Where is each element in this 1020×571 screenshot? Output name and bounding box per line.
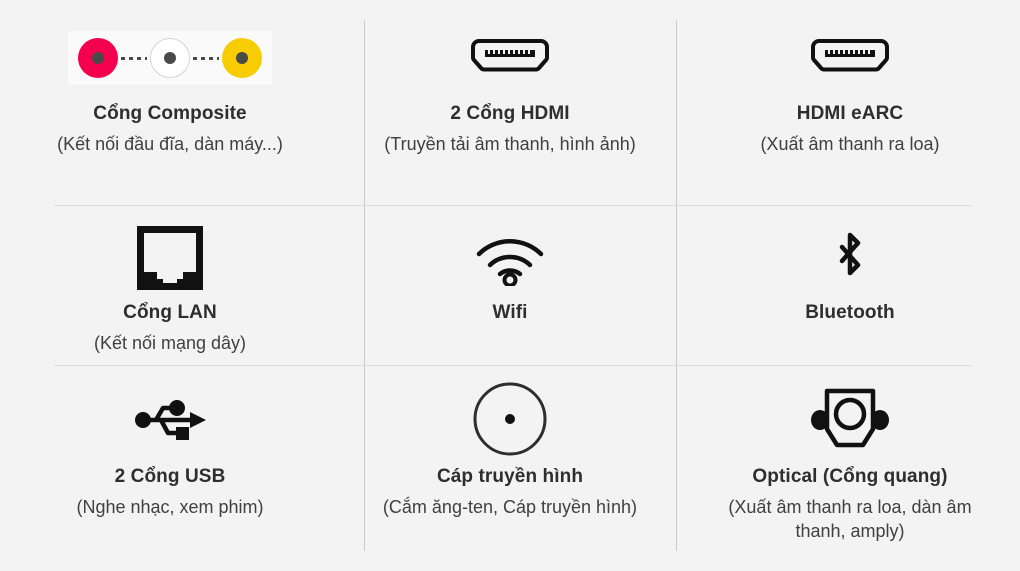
lan-port-body — [137, 226, 203, 290]
hdmi-earc-port-icon — [807, 26, 893, 90]
feature-cell-usb: 2 Cổng USB (Nghe nhạc, xem phim) — [0, 365, 340, 571]
rca-white-connector-icon — [150, 38, 190, 78]
feature-subtitle: (Xuất âm thanh ra loa) — [760, 132, 939, 156]
feature-subtitle: (Truyền tải âm thanh, hình ảnh) — [384, 132, 635, 156]
feature-title: Cổng Composite — [93, 102, 246, 126]
coaxial-antenna-icon — [471, 381, 549, 457]
feature-subtitle: (Cắm ăng-ten, Cáp truyền hình) — [383, 495, 637, 519]
feature-title: 2 Cổng HDMI — [450, 102, 569, 126]
feature-title: Optical (Cổng quang) — [752, 465, 947, 489]
rca-dotted-link-left — [121, 57, 147, 60]
rca-red-connector-icon — [78, 38, 118, 78]
composite-rca-icon — [68, 26, 272, 90]
column-divider-1 — [364, 20, 365, 551]
bluetooth-icon — [830, 227, 870, 289]
feature-cell-hdmi-earc: HDMI eARC (Xuất âm thanh ra loa) — [680, 0, 1020, 205]
lan-notch-narrow — [163, 272, 177, 283]
column-divider-2 — [676, 20, 677, 551]
row-divider-1 — [54, 205, 972, 206]
feature-cell-bluetooth: Bluetooth — [680, 205, 1020, 365]
feature-title: Cáp truyền hình — [437, 465, 583, 489]
connectivity-feature-grid: Cổng Composite (Kết nối đầu đĩa, dàn máy… — [0, 0, 1020, 571]
feature-title: 2 Cổng USB — [115, 465, 226, 489]
rca-white-pin — [164, 52, 176, 64]
feature-cell-wifi: Wifi — [340, 205, 680, 365]
wifi-icon — [473, 227, 547, 289]
feature-title: Wifi — [492, 301, 527, 325]
rca-strip — [68, 31, 272, 85]
rca-yellow-pin — [236, 52, 248, 64]
feature-subtitle: (Xuất âm thanh ra loa, dàn âm thanh, amp… — [720, 495, 980, 544]
lan-rj45-icon — [137, 227, 203, 289]
feature-subtitle: (Nghe nhạc, xem phim) — [76, 495, 263, 519]
feature-title: HDMI eARC — [797, 102, 903, 126]
rca-dotted-link-right — [193, 57, 219, 60]
feature-cell-coaxial: Cáp truyền hình (Cắm ăng-ten, Cáp truyền… — [340, 365, 680, 571]
feature-cell-composite: Cổng Composite (Kết nối đầu đĩa, dàn máy… — [0, 0, 340, 205]
feature-cell-lan: Cổng LAN (Kết nối mạng dây) — [0, 205, 340, 365]
hdmi-port-icon — [467, 26, 553, 90]
feature-title: Bluetooth — [805, 301, 895, 325]
feature-subtitle: (Kết nối mạng dây) — [94, 331, 246, 355]
feature-cell-optical: Optical (Cổng quang) (Xuất âm thanh ra l… — [680, 365, 1020, 571]
row-divider-2 — [54, 365, 972, 366]
feature-title: Cổng LAN — [123, 301, 217, 325]
lan-jack-cutout — [144, 233, 196, 272]
optical-toslink-icon — [809, 381, 891, 457]
rca-yellow-connector-icon — [222, 38, 262, 78]
usb-icon — [132, 381, 208, 457]
rca-red-pin — [92, 52, 104, 64]
feature-cell-hdmi: 2 Cổng HDMI (Truyền tải âm thanh, hình ả… — [340, 0, 680, 205]
feature-subtitle: (Kết nối đầu đĩa, dàn máy...) — [57, 132, 283, 156]
